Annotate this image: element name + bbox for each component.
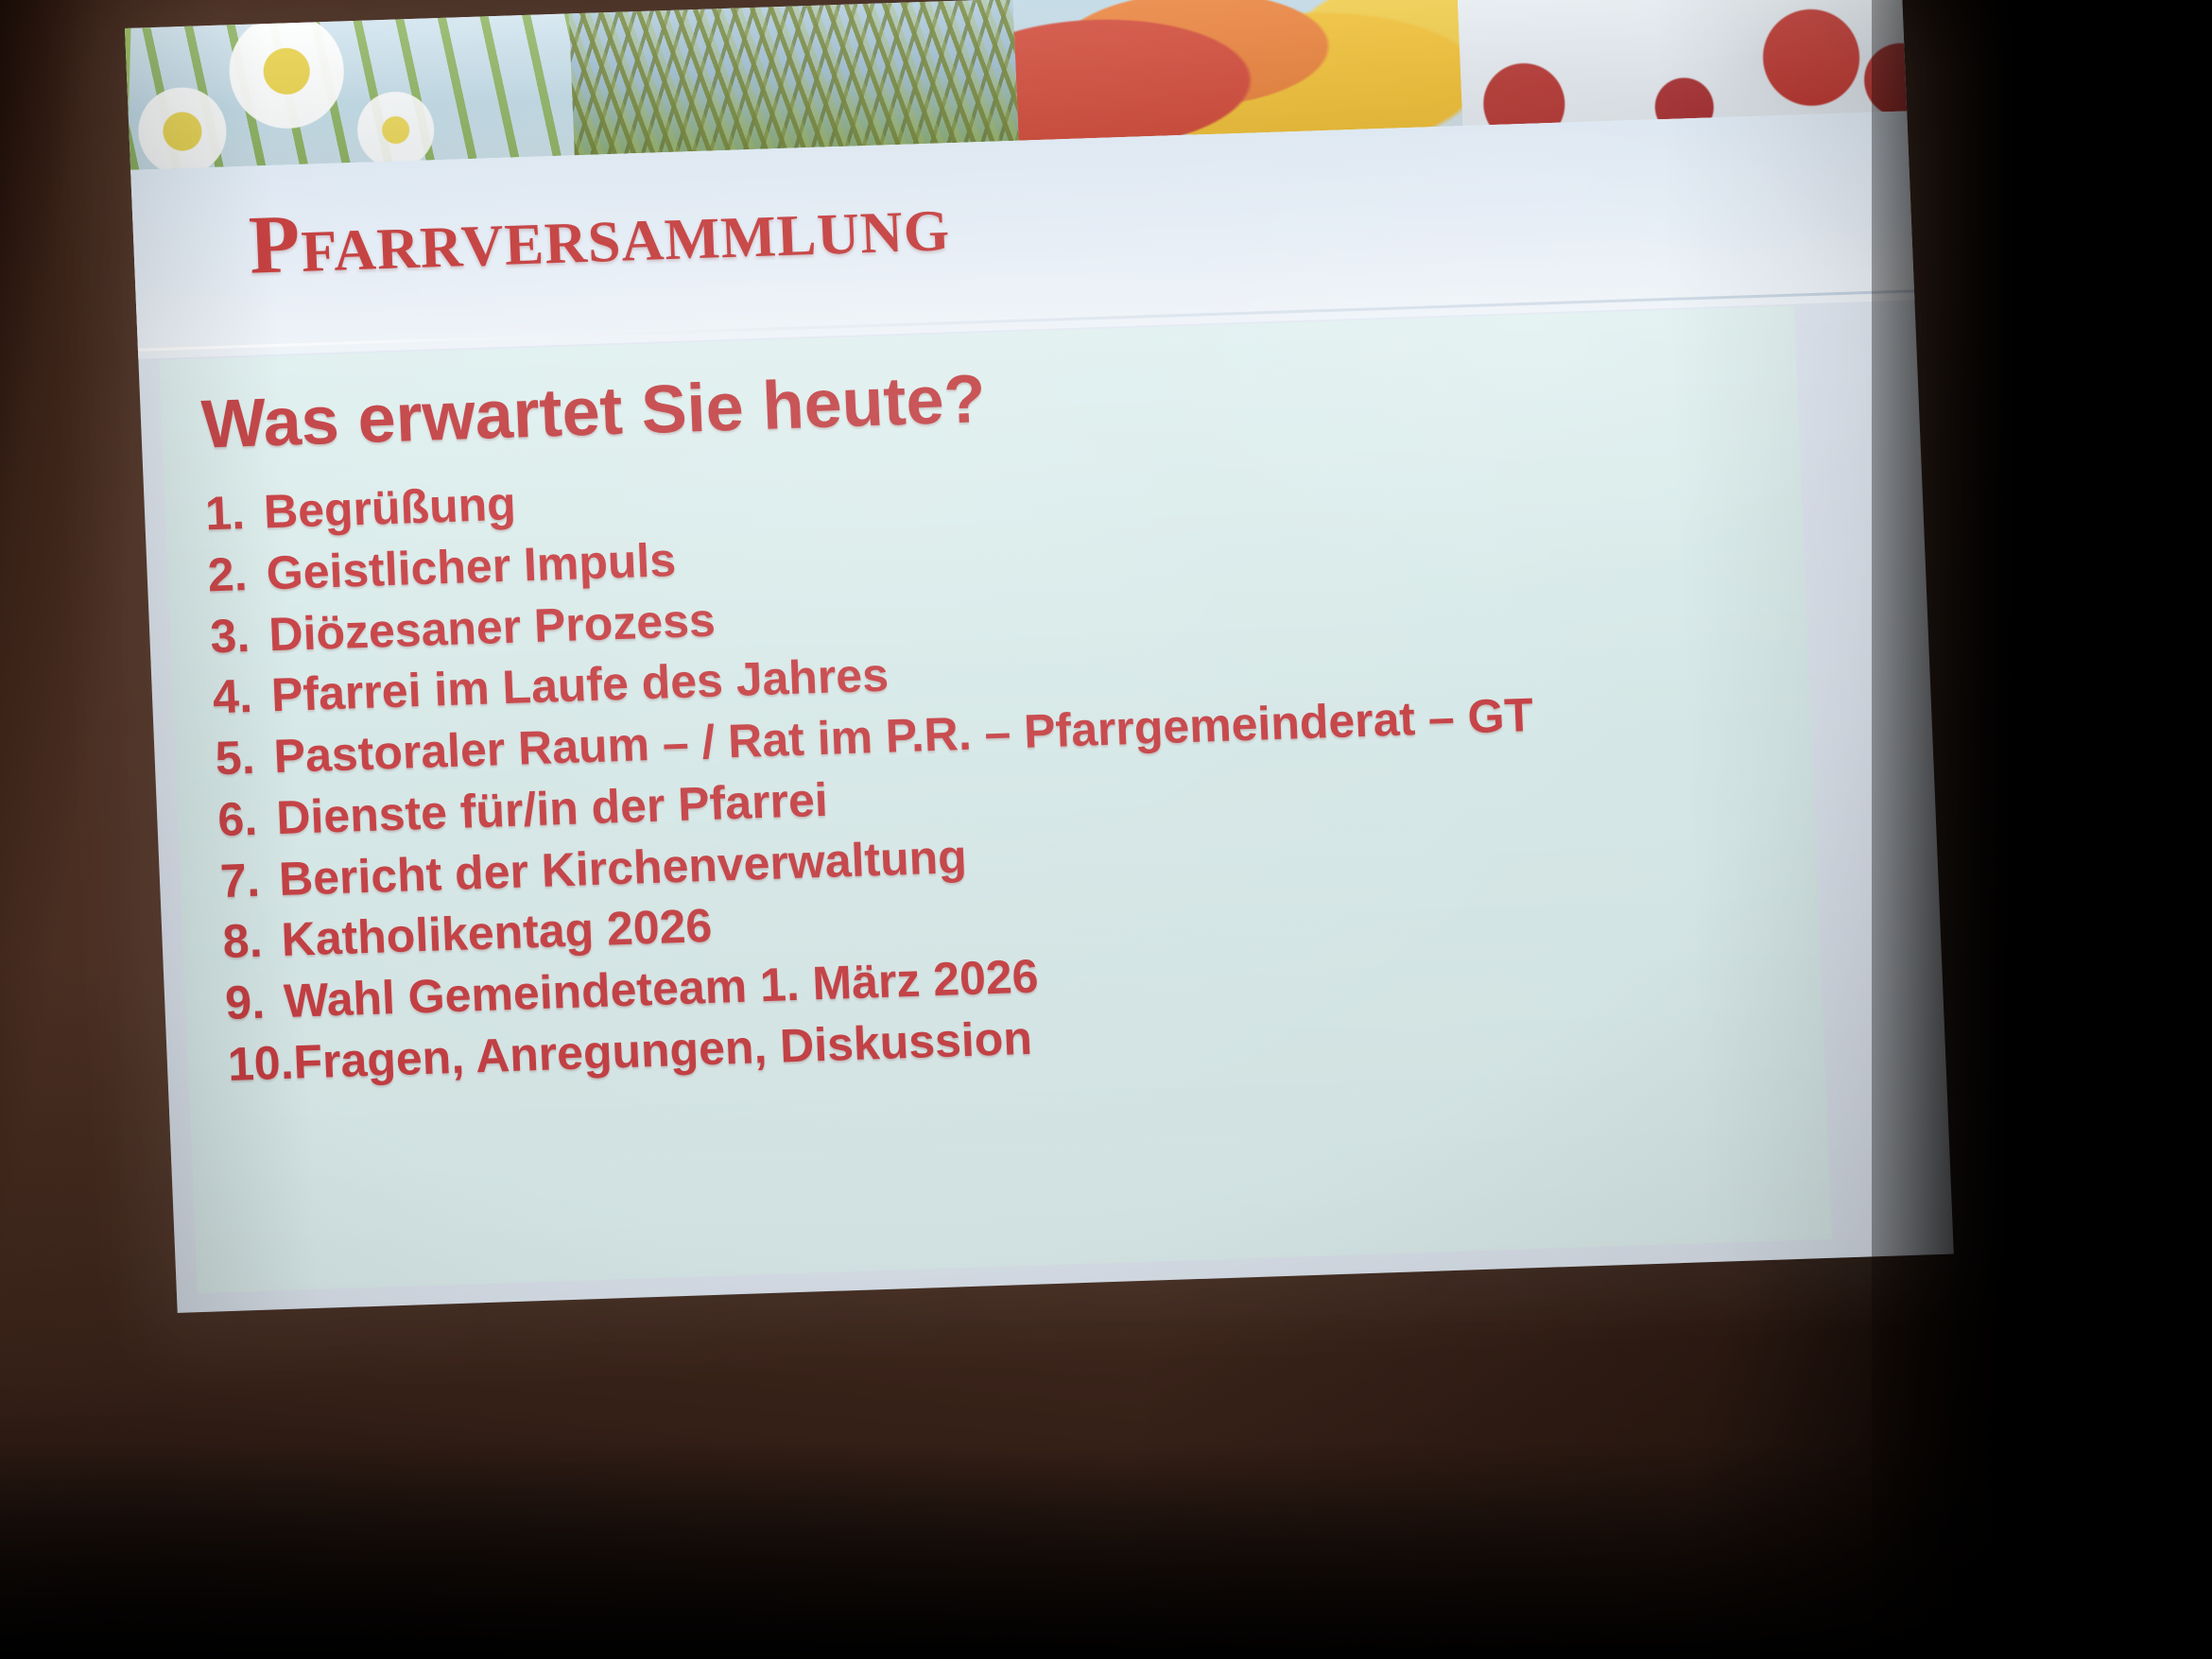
slide-surface: Pfarrversammlung Was erwartet Sie heute?…: [125, 0, 1954, 1313]
agenda-item-number: 1.: [204, 481, 266, 544]
agenda-item-number: 3.: [209, 604, 270, 667]
agenda-item-number: 7.: [219, 849, 281, 912]
agenda-item-label: Begrüßung: [263, 474, 517, 544]
agenda-item-number: 6.: [216, 787, 278, 851]
dark-wall-bottom: [0, 1442, 2212, 1659]
dark-wall-right: [1872, 0, 2212, 1659]
agenda-item-number: 9.: [224, 971, 285, 1034]
agenda-item-number: 8.: [221, 909, 283, 973]
agenda-item-number: 4.: [212, 665, 273, 729]
content-panel: Was erwartet Sie heute? 1.Begrüßung2.Gei…: [159, 306, 1832, 1294]
agenda-item-number: 2.: [206, 543, 268, 606]
agenda-item-number: 5.: [214, 726, 275, 789]
room-wall: Pfarrversammlung Was erwartet Sie heute?…: [0, 0, 2212, 1659]
content-inner: Was erwartet Sie heute? 1.Begrüßung2.Gei…: [200, 338, 1813, 1285]
agenda-item-number: 10.: [227, 1031, 295, 1095]
agenda-list: 1.Begrüßung2.Geistlicher Impuls3.Diözesa…: [204, 431, 1806, 1095]
slide-title: Pfarrversammlung: [247, 175, 951, 294]
projected-slide: Pfarrversammlung Was erwartet Sie heute?…: [125, 0, 1954, 1313]
